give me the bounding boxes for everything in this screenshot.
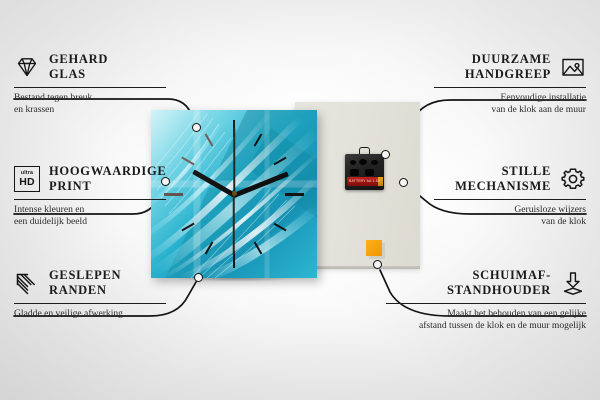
feature-description: Intense kleuren en een duidelijk beeld xyxy=(14,204,166,230)
diamond-icon xyxy=(14,54,40,80)
infographic-stage: BATTERY AA 1.5V xyxy=(0,0,600,400)
glass-wall-clock xyxy=(151,110,317,278)
feature-title: DUURZAME HANDGREEP xyxy=(465,52,551,83)
feature-durable-handle: DUURZAME HANDGREEP Eenvoudige installati… xyxy=(434,52,586,117)
feature-header: STILLE MECHANISME xyxy=(434,164,586,195)
connector-node-beveled-edges xyxy=(194,273,203,282)
connector-node-handle xyxy=(381,150,390,159)
feature-title: SCHUIMAF- STANDHOUDER xyxy=(447,268,551,299)
feature-divider xyxy=(386,303,586,304)
battery-label: BATTERY AA 1.5V xyxy=(349,179,380,183)
feature-title: GEHARD GLAS xyxy=(49,52,108,83)
product-photo: BATTERY AA 1.5V xyxy=(130,92,430,292)
clock-second-hand xyxy=(233,194,235,256)
feature-title: STILLE MECHANISME xyxy=(455,164,551,195)
feature-foam-spacer: SCHUIMAF- STANDHOUDER Maakt het behouden… xyxy=(386,268,586,333)
beveled-edges-icon xyxy=(14,270,40,296)
clock-floor-shadow xyxy=(151,278,319,285)
feature-description: Geruisloze wijzers van de klok xyxy=(434,204,586,230)
feature-header: SCHUIMAF- STANDHOUDER xyxy=(386,268,586,299)
gear-icon xyxy=(560,166,586,192)
feature-divider xyxy=(14,303,166,304)
feature-title: HOOGWAARDIGE PRINT xyxy=(49,164,166,195)
clock-tick-9 xyxy=(164,193,183,196)
feature-header: GEHARD GLAS xyxy=(14,52,166,83)
ultra-hd-badge-icon: ultra HD xyxy=(14,166,40,192)
clock-tick-3 xyxy=(285,193,304,196)
clock-hands-pivot xyxy=(232,191,237,196)
feature-header: DUURZAME HANDGREEP xyxy=(434,52,586,83)
connector-node-tempered-glass xyxy=(192,123,201,132)
feature-tempered-glass: GEHARD GLAS Bestand tegen breuk en krass… xyxy=(14,52,166,117)
feature-title: GESLEPEN RANDEN xyxy=(49,268,121,299)
feature-description: Gladde en veilige afwerking xyxy=(14,308,166,321)
clock-second-hand-tail xyxy=(233,128,235,194)
feature-silent-mechanism: STILLE MECHANISME Geruisloze wijzers van… xyxy=(434,164,586,229)
feature-divider xyxy=(434,199,586,200)
picture-frame-icon xyxy=(560,54,586,80)
badge-main-text: HD xyxy=(19,177,35,188)
feature-header: GESLEPEN RANDEN xyxy=(14,268,166,299)
feature-beveled-edges: GESLEPEN RANDEN Gladde en veilige afwerk… xyxy=(14,268,166,320)
down-arrow-stack-icon xyxy=(560,270,586,296)
feature-description: Eenvoudige installatie van de klok aan d… xyxy=(434,92,586,118)
feature-divider xyxy=(14,199,166,200)
connector-node-foam-holder xyxy=(373,260,382,269)
foam-spacer-pad xyxy=(366,240,382,256)
feature-description: Maakt het behouden van een gelijke afsta… xyxy=(386,308,586,334)
feature-divider xyxy=(434,87,586,88)
feature-description: Bestand tegen breuk en krassen xyxy=(14,92,166,118)
feature-header: ultra HD HOOGWAARDIGE PRINT xyxy=(14,164,166,195)
feature-hd-print: ultra HD HOOGWAARDIGE PRINT Intense kleu… xyxy=(14,164,166,229)
feature-divider xyxy=(14,87,166,88)
connector-node-mechanism xyxy=(399,178,408,187)
